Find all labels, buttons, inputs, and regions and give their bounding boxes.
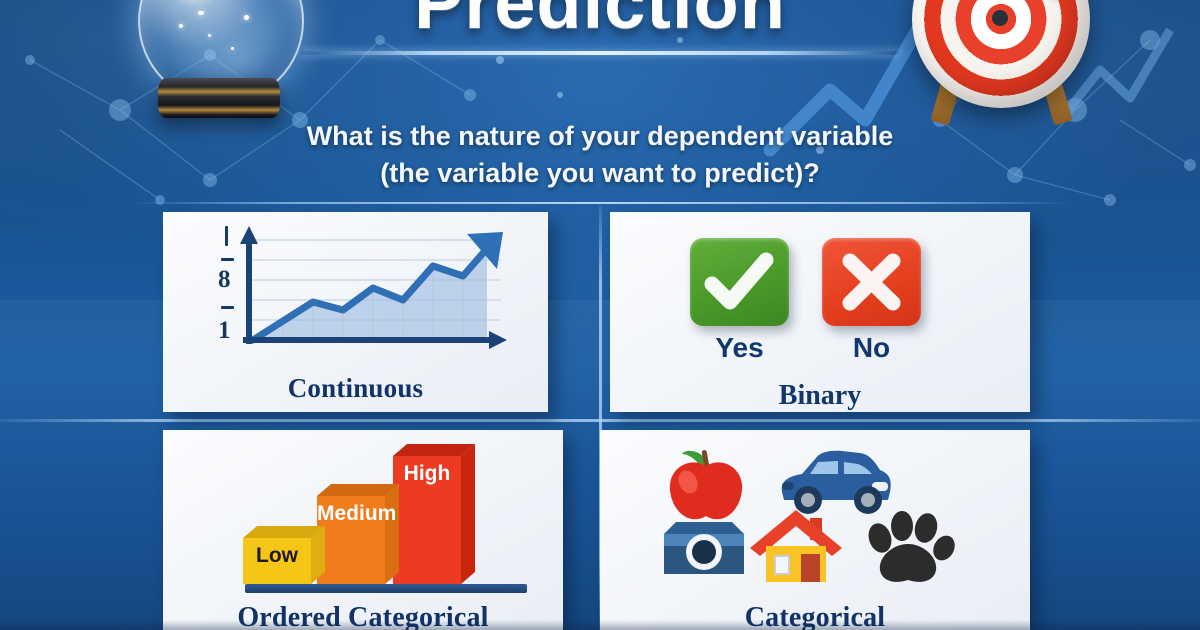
card-label-categorical: Categorical bbox=[600, 602, 1030, 630]
question-line-2: (the variable you want to predict)? bbox=[0, 155, 1200, 192]
question-line-1: What is the nature of your dependent var… bbox=[307, 121, 894, 151]
paw-print-icon bbox=[860, 508, 956, 593]
card-label-continuous: Continuous bbox=[163, 373, 548, 404]
slide-canvas: Prediction What is the nature of your de… bbox=[0, 0, 1200, 630]
card-label-ordered-categorical: Ordered Categorical bbox=[163, 602, 563, 630]
bar-chart-baseline bbox=[245, 584, 527, 593]
cross-mark-icon bbox=[822, 238, 921, 326]
option-card-binary[interactable]: Yes No Binary bbox=[610, 212, 1030, 412]
check-mark-icon bbox=[690, 238, 789, 326]
categorical-icon-set bbox=[654, 438, 984, 588]
bar-chart-icon: High Medium Low bbox=[225, 438, 515, 590]
binary-option-yes-label: Yes bbox=[690, 332, 789, 364]
bar-label-low: Low bbox=[243, 544, 311, 568]
grid-horizontal-divider bbox=[0, 419, 1200, 422]
bar-label-medium: Medium bbox=[317, 502, 385, 526]
line-chart-icon: 8 1 bbox=[191, 222, 521, 360]
card-label-binary: Binary bbox=[610, 380, 1030, 412]
option-card-continuous[interactable]: 8 1 bbox=[163, 212, 548, 412]
title-underline-rule bbox=[300, 51, 900, 55]
options-grid: 8 1 bbox=[0, 206, 1200, 630]
bar-label-high: High bbox=[393, 462, 461, 486]
binary-option-no-label: No bbox=[822, 332, 921, 364]
house-icon bbox=[746, 506, 846, 591]
header-divider bbox=[130, 202, 1070, 204]
page-title: Prediction bbox=[0, 0, 1200, 45]
camera-icon bbox=[654, 514, 750, 587]
option-card-categorical[interactable]: Categorical bbox=[600, 430, 1030, 630]
option-card-ordered-categorical[interactable]: High Medium Low Ordered Categorical bbox=[163, 430, 563, 630]
question-text: What is the nature of your dependent var… bbox=[0, 118, 1200, 193]
